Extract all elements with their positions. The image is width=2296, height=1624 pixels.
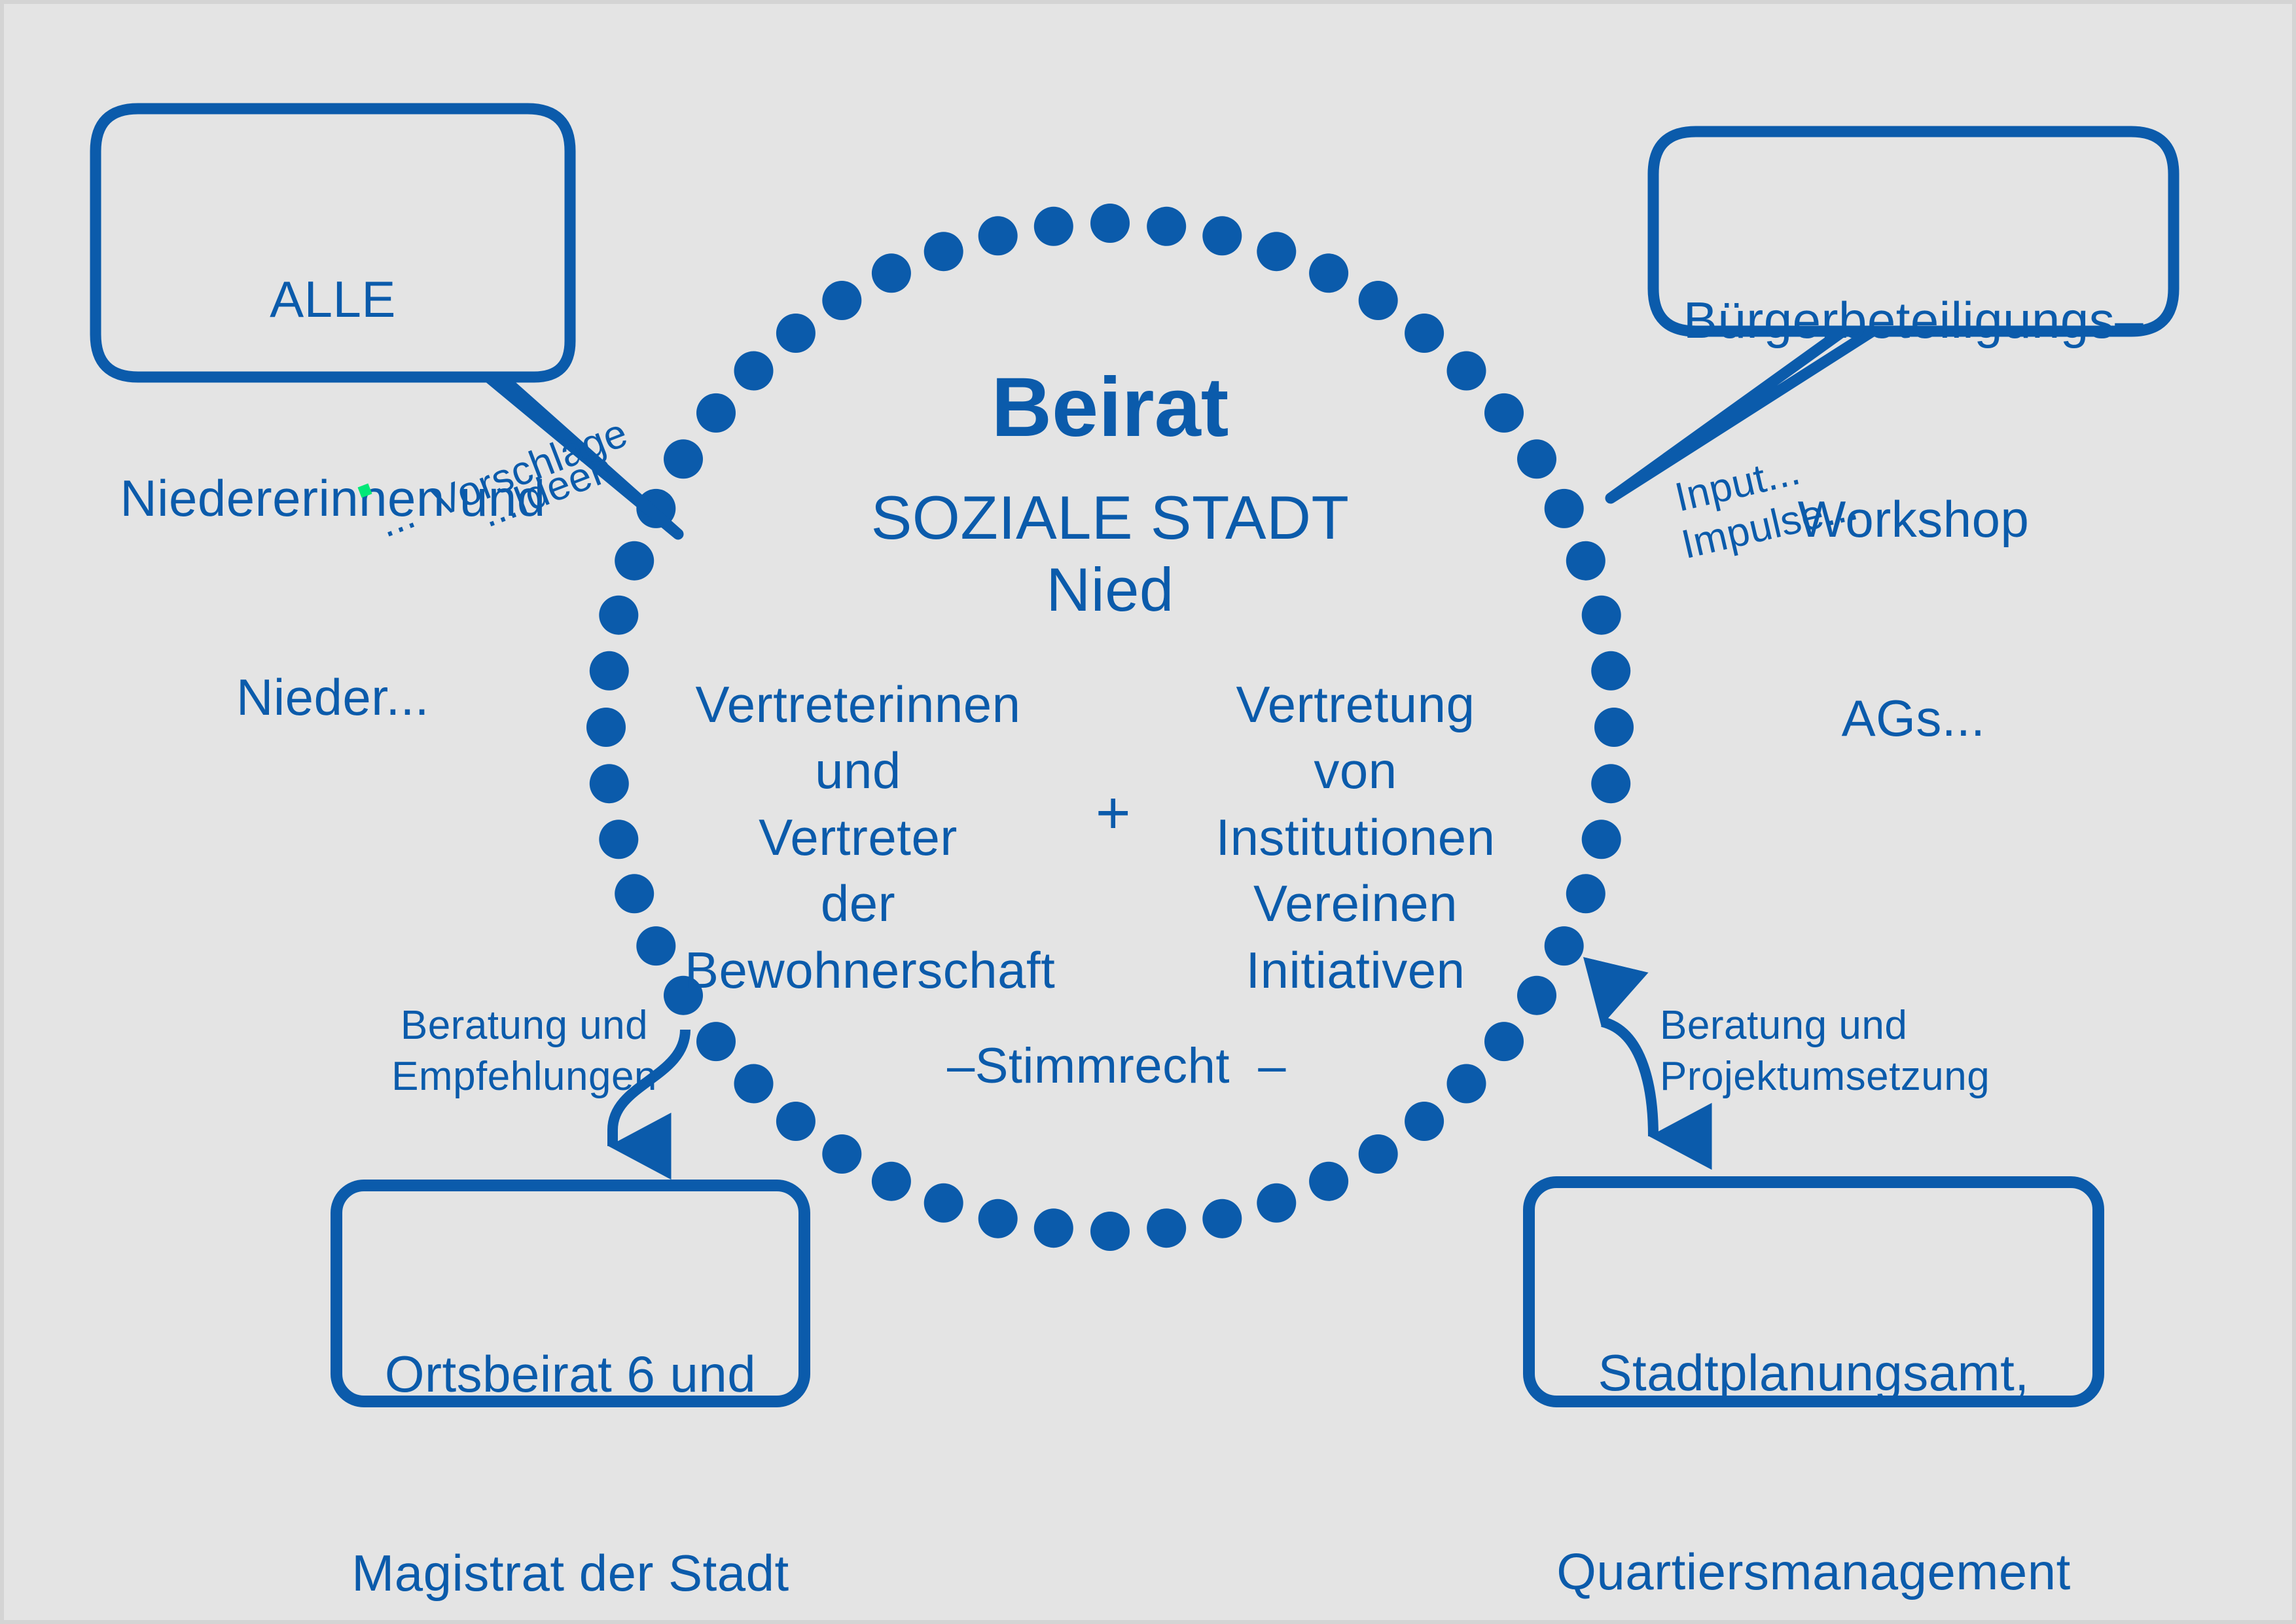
ring-dot [1147, 207, 1186, 246]
center-plus-sign: + [1081, 780, 1146, 847]
ring-dot [1447, 352, 1486, 391]
ring-dot [1090, 1212, 1130, 1251]
ring-dot [696, 393, 736, 433]
annotation-beratung-empfehlungen: Beratung und Empfehlungen [374, 1000, 675, 1102]
ring-dot [1405, 1102, 1444, 1141]
box-bottom-left-text: Ortsbeirat 6 und Magistrat der Stadt Fra… [336, 1208, 804, 1624]
ring-dot [1202, 1199, 1242, 1238]
ring-dot [822, 281, 861, 320]
ring-dot [615, 874, 654, 913]
ring-dot [924, 232, 963, 271]
ring-dot [734, 1064, 774, 1104]
diagram-canvas: ALLE Niedererinnen und Nieder... Bürgerb… [0, 0, 2296, 1624]
ring-dot [1545, 489, 1584, 528]
ring-dot [1090, 204, 1130, 243]
ring-dot [590, 651, 629, 691]
ring-dot [776, 1102, 816, 1141]
ring-dot [872, 1162, 911, 1201]
ring-dot [696, 1022, 736, 1061]
ring-dot [822, 1134, 861, 1174]
ring-dot [978, 1199, 1018, 1238]
ring-dot [636, 926, 675, 965]
center-subtitle-line1: SOZIALE STADT [848, 482, 1372, 554]
ring-dot [1484, 393, 1524, 433]
ring-dot [599, 596, 638, 635]
ring-dot [1582, 596, 1621, 635]
ring-dot [1545, 926, 1584, 965]
ring-dot [924, 1183, 963, 1223]
box-bottom-right-text: Stadtplanungsamt, Quartiersmanagement un… [1529, 1207, 2098, 1624]
ring-dot [1147, 1208, 1186, 1248]
ring-dot [1484, 1022, 1524, 1061]
ring-dot [1566, 541, 1605, 581]
ring-dot [1405, 314, 1444, 353]
bubble-tl-line1: ALLE [96, 266, 570, 333]
ring-dot [1034, 207, 1073, 246]
center-footer-stimmrecht: –Stimmrecht – [914, 1038, 1319, 1094]
ring-dot [1034, 1208, 1073, 1248]
arrow-right-advice [1602, 1022, 1653, 1136]
ring-dot [872, 253, 911, 293]
center-subtitle-line2: Nied [848, 554, 1372, 626]
ring-dot [1257, 232, 1296, 271]
ring-dot [734, 352, 774, 391]
ring-dot [1309, 1162, 1348, 1201]
ring-dot [1582, 820, 1621, 859]
bubble-tr-line1: Bürgerbeteiligungs– [1653, 287, 2174, 353]
center-title: Beirat [848, 361, 1372, 454]
ring-dot [1202, 216, 1242, 255]
box-br-line2: Quartiersmanagement [1529, 1539, 2098, 1605]
ring-dot [978, 216, 1018, 255]
bubble-tr-line3: AGs... [1653, 685, 2174, 751]
box-br-line1: Stadtplanungsamt, [1529, 1340, 2098, 1406]
ring-dot [1591, 651, 1630, 691]
ring-dot [590, 764, 629, 803]
annotation-beratung-projektumsetzung: Beratung und Projektumsetzung [1660, 1000, 2000, 1102]
ring-dot [1359, 1134, 1398, 1174]
ring-dot [1359, 281, 1398, 320]
ring-dot [1309, 253, 1348, 293]
bubble-tl-line3: Nieder... [96, 664, 570, 731]
ring-dot [1517, 439, 1556, 478]
ring-dot [1591, 764, 1630, 803]
ring-dot [1257, 1183, 1296, 1223]
ring-dot [599, 820, 638, 859]
box-bl-line1: Ortsbeirat 6 und [336, 1341, 804, 1407]
box-bl-line2: Magistrat der Stadt [336, 1540, 804, 1606]
ring-dot [586, 708, 626, 747]
ring-dot [615, 541, 654, 581]
ring-dot [1447, 1064, 1486, 1104]
ring-dot [1594, 708, 1634, 747]
center-left-column: Vertreterinnen und Vertreter der Bewohne… [685, 672, 1031, 1003]
center-right-column: Vertretung von Institutionen Vereinen In… [1182, 672, 1529, 1003]
ring-dot [776, 314, 816, 353]
ring-dot [1566, 874, 1605, 913]
